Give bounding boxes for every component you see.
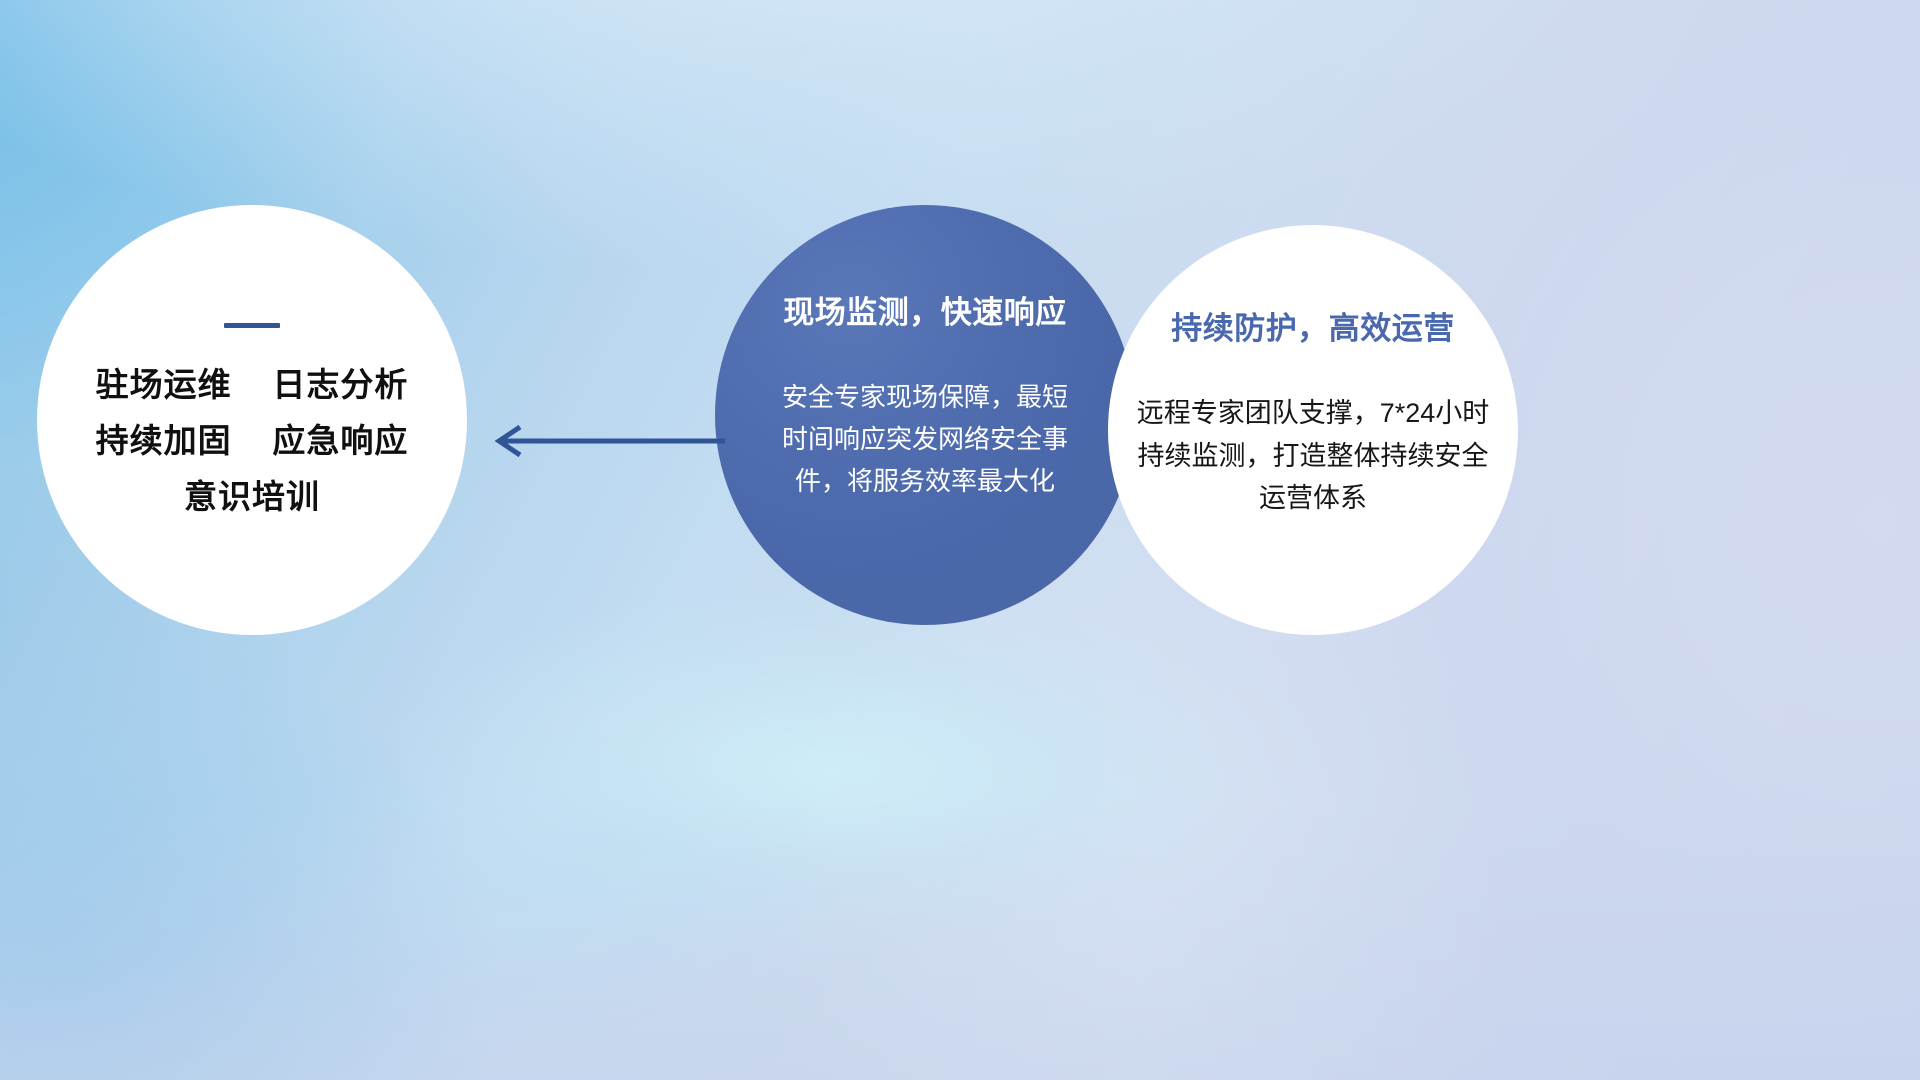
onsite-monitoring-circle: 现场监测，快速响应 安全专家现场保障，最短时间响应突发网络安全事件，将服务效率最… [715,205,1135,625]
continuous-protection-title: 持续防护，高效运营 [1171,303,1455,348]
capabilities-circle: 驻场运维 日志分析 持续加固 应急响应 意识培训 [37,205,467,635]
capabilities-line-1: 驻场运维 日志分析 [96,368,409,403]
divider-dash [224,323,280,328]
left-arrow-icon [470,410,730,472]
slide-canvas: 驻场运维 日志分析 持续加固 应急响应 意识培训 现场监测，快速响应 安全专家现… [0,0,1920,1080]
continuous-protection-circle: 持续防护，高效运营 远程专家团队支撑，7*24小时持续监测，打造整体持续安全运营… [1108,225,1518,635]
onsite-monitoring-title: 现场监测，快速响应 [783,287,1067,332]
capabilities-line-3: 意识培训 [184,480,320,515]
capabilities-list: 驻场运维 日志分析 持续加固 应急响应 意识培训 [96,368,409,515]
continuous-protection-body: 远程专家团队支撑，7*24小时持续监测，打造整体持续安全运营体系 [1135,392,1491,520]
onsite-monitoring-body: 安全专家现场保障，最短时间响应突发网络安全事件，将服务效率最大化 [770,376,1080,502]
capabilities-line-2: 持续加固 应急响应 [96,424,409,459]
